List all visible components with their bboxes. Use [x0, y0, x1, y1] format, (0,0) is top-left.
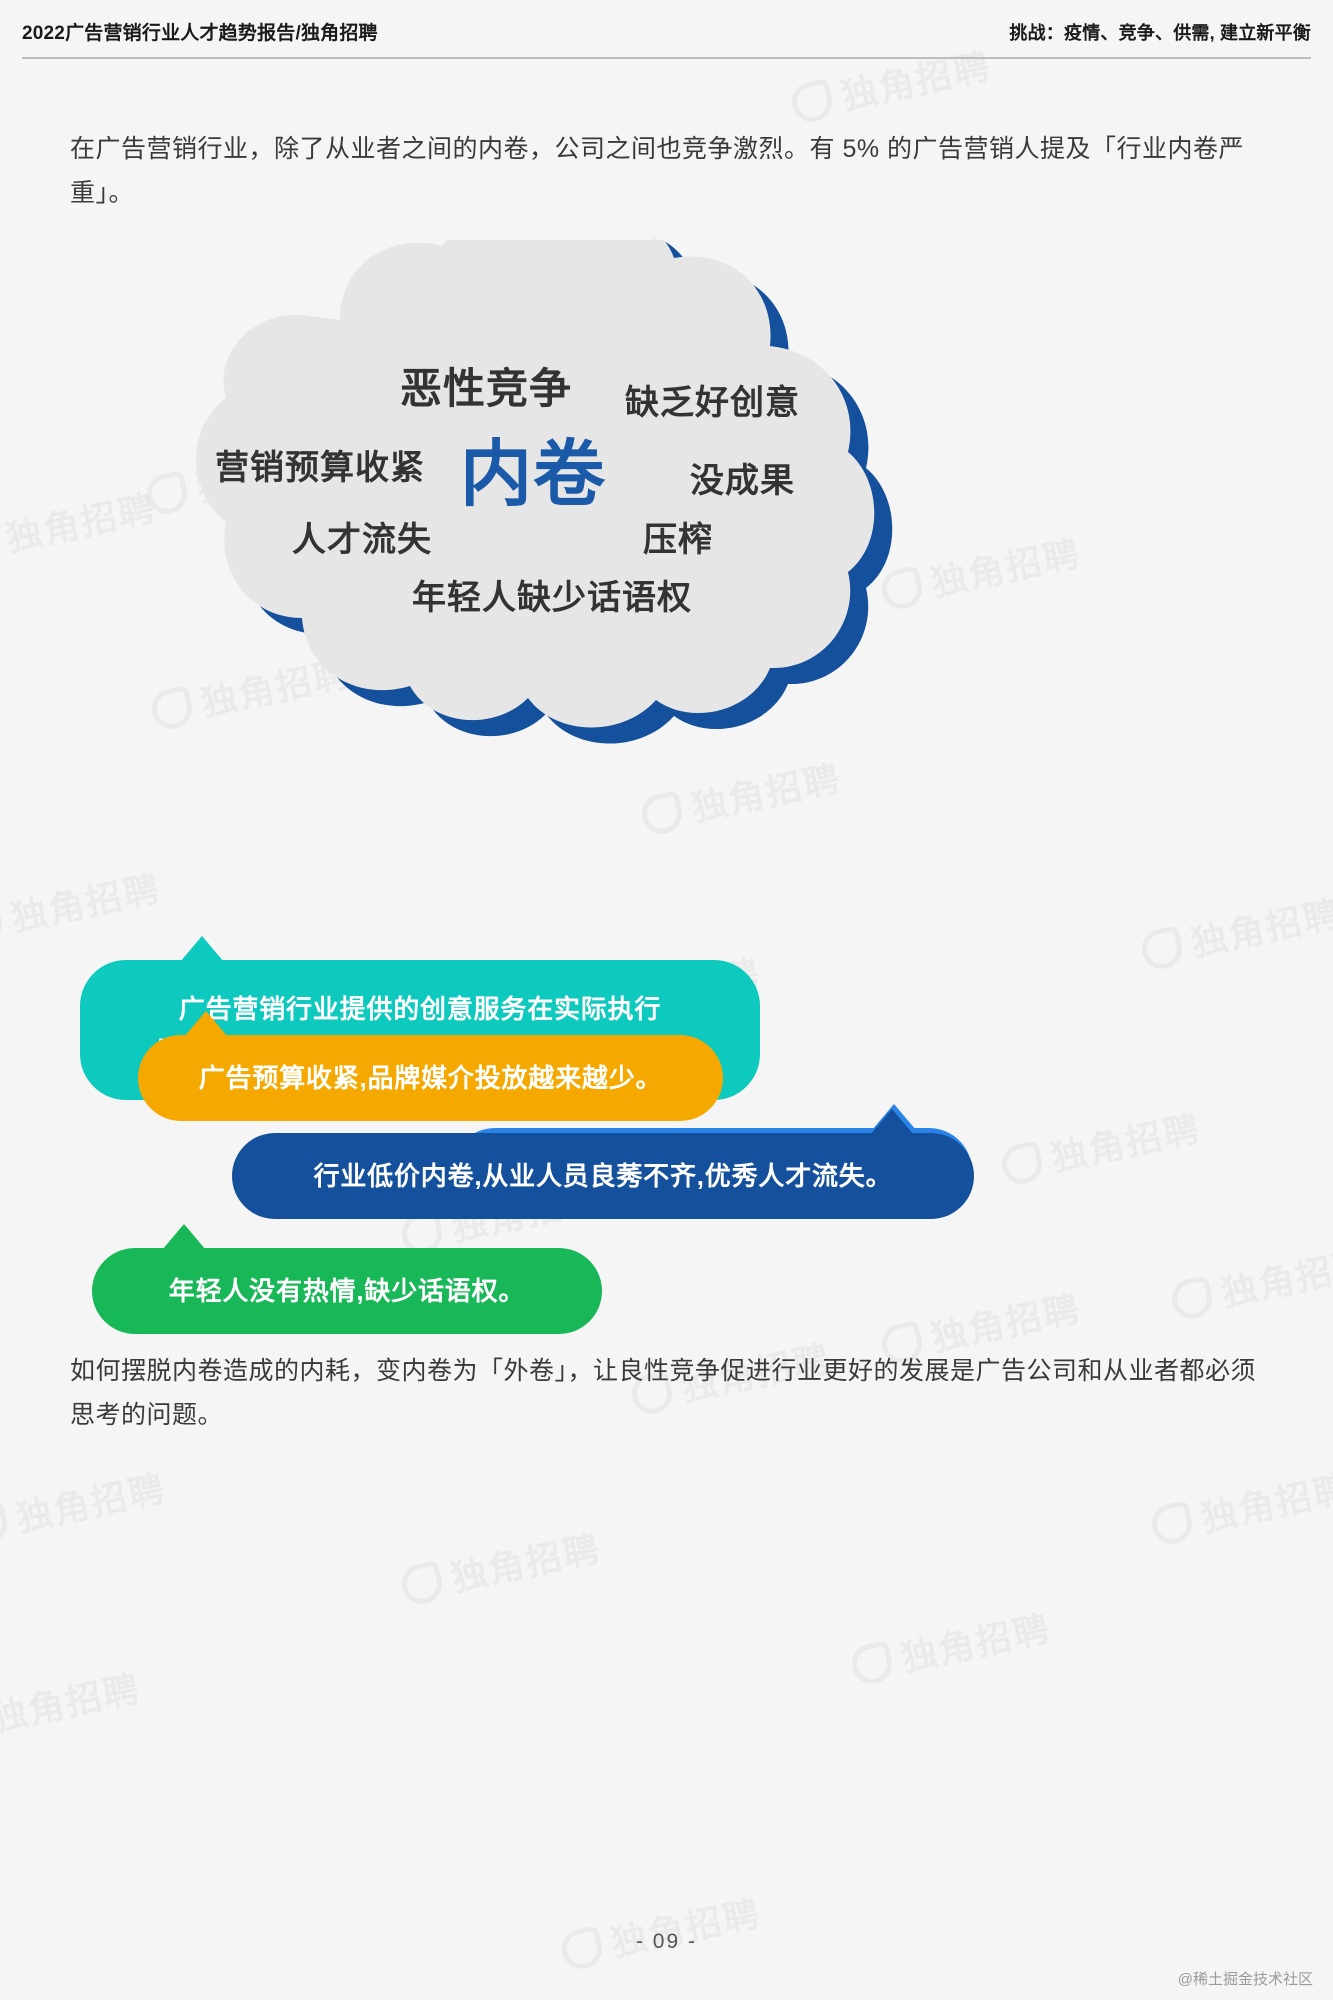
- word-cloud-graphic: 恶性竞争缺乏好创意营销预算收紧没成果人才流失压榨年轻人缺少话语权内卷: [60, 240, 960, 760]
- cloud-word: 人才流失: [292, 512, 432, 561]
- cloud-word: 恶性竞争: [400, 355, 572, 416]
- bubble-line: 广告营销行业提供的创意服务在实际执行: [157, 988, 682, 1030]
- quote-bubble: 广告预算收紧,品牌媒介投放越来越少。: [138, 1035, 723, 1121]
- bubble-text: 广告预算收紧,品牌媒介投放越来越少。: [165, 1057, 697, 1099]
- watermark: 独角招聘: [997, 1100, 1205, 1193]
- cloud-word: 年轻人缺少话语权: [412, 570, 692, 619]
- cloud-word: 缺乏好创意: [625, 375, 800, 424]
- cloud-word-list: 恶性竞争缺乏好创意营销预算收紧没成果人才流失压榨年轻人缺少话语权内卷: [60, 240, 960, 760]
- page-number: - 09 -: [0, 1930, 1333, 1954]
- cloud-word: 营销预算收紧: [215, 440, 425, 489]
- section-title: 挑战：疫情、竞争、供需, 建立新平衡: [1009, 19, 1311, 45]
- report-page: 独角招聘 独角招聘 独角招聘 独角招聘 独角招聘 独角招聘 独角招聘 独角招聘 …: [0, 0, 1333, 2000]
- watermark: 独角招聘: [397, 1520, 605, 1613]
- header-divider: [22, 57, 1311, 59]
- report-title: 2022广告营销行业人才趋势报告/独角招聘: [22, 18, 378, 45]
- quote-bubble: 年轻人没有热情,缺少话语权。: [92, 1248, 602, 1334]
- page-header: 2022广告营销行业人才趋势报告/独角招聘 挑战：疫情、竞争、供需, 建立新平衡: [0, 0, 1333, 60]
- cloud-word: 压榨: [643, 512, 713, 561]
- watermark: 独角招聘: [847, 1600, 1055, 1693]
- cloud-center-word: 内卷: [460, 415, 606, 520]
- watermark: 独角招聘: [1167, 1235, 1333, 1328]
- credit-label: @稀土掘金技术社区: [1178, 1968, 1313, 1989]
- bubble-text: 年轻人没有热情,缺少话语权。: [135, 1270, 559, 1312]
- watermark: 独角招聘: [637, 750, 845, 843]
- bubble-line: 行业低价内卷,从业人员良莠不齐,优秀人才流失。: [314, 1155, 893, 1197]
- watermark: 独角招聘: [1137, 885, 1333, 978]
- bubble-text: 行业低价内卷,从业人员良莠不齐,优秀人才流失。: [280, 1155, 927, 1197]
- intro-paragraph: 在广告营销行业，除了从业者之间的内卷，公司之间也竞争激烈。有 5% 的广告营销人…: [70, 128, 1270, 216]
- quote-bubble: 行业低价内卷,从业人员良莠不齐,优秀人才流失。: [232, 1133, 974, 1219]
- watermark: 独角招聘: [0, 860, 165, 953]
- cloud-word: 没成果: [690, 453, 795, 502]
- watermark: 独角招聘: [1147, 1460, 1333, 1553]
- outro-paragraph: 如何摆脱内卷造成的内耗，变内卷为「外卷」，让良性竞争促进行业更好的发展是广告公司…: [70, 1350, 1270, 1438]
- watermark: 独角招聘: [0, 1460, 170, 1553]
- bubble-line: 年轻人没有热情,缺少话语权。: [169, 1270, 525, 1312]
- watermark: 独角招聘: [0, 1660, 145, 1753]
- bubble-tail: [180, 936, 224, 962]
- bubble-tail: [184, 1011, 228, 1037]
- bubble-tail: [870, 1109, 914, 1135]
- bubble-line: 广告预算收紧,品牌媒介投放越来越少。: [199, 1057, 663, 1099]
- bubble-tail: [162, 1224, 206, 1250]
